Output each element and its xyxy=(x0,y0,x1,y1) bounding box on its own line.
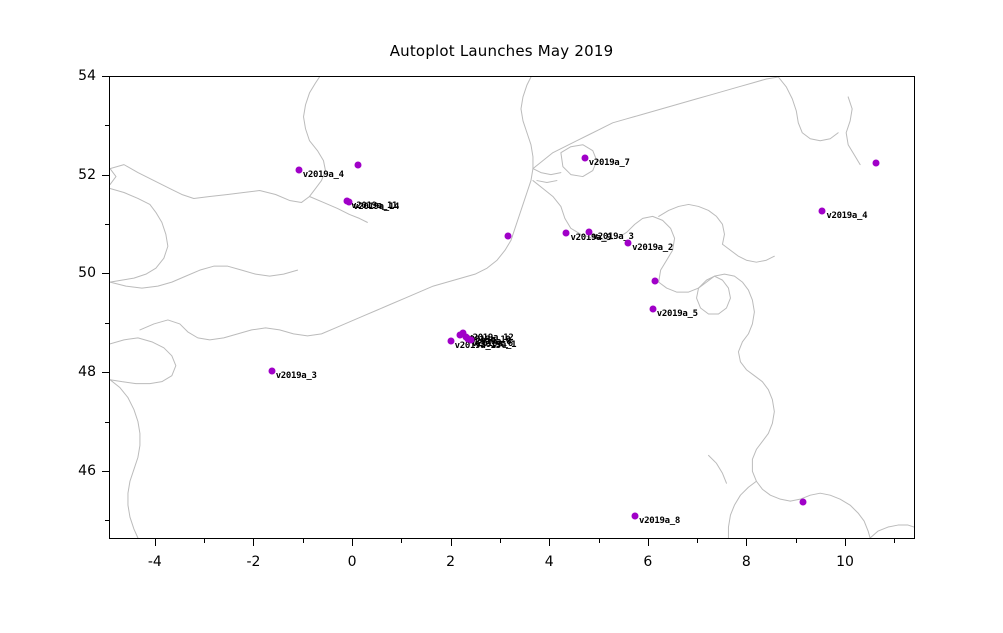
scatter-point xyxy=(468,336,475,343)
x-tick-label: -2 xyxy=(246,554,260,570)
x-tick xyxy=(451,539,452,546)
scatter-point xyxy=(872,160,879,167)
y-tick-label: 54 xyxy=(54,68,96,84)
x-tick-label: 10 xyxy=(836,554,854,570)
x-tick-label: 2 xyxy=(446,554,455,570)
x-tick-minor xyxy=(204,539,205,543)
scatter-point xyxy=(581,155,588,162)
y-tick-label: 50 xyxy=(54,265,96,281)
scatter-point xyxy=(632,513,639,520)
x-tick-label: 8 xyxy=(742,554,751,570)
point-label: v2019a_1 xyxy=(475,340,516,350)
y-tick-minor xyxy=(105,422,109,423)
point-label: v2019a_2 xyxy=(632,243,673,253)
y-tick-label: 48 xyxy=(54,364,96,380)
scatter-point xyxy=(652,278,659,285)
scatter-point xyxy=(346,198,353,205)
x-tick xyxy=(352,539,353,546)
x-tick-label: 0 xyxy=(348,554,357,570)
x-tick-minor xyxy=(500,539,501,543)
scatter-point xyxy=(563,230,570,237)
scatter-point xyxy=(295,166,302,173)
x-tick-label: -4 xyxy=(148,554,162,570)
y-tick xyxy=(102,372,109,373)
x-tick xyxy=(845,539,846,546)
x-tick-minor xyxy=(599,539,600,543)
x-tick-minor xyxy=(894,539,895,543)
y-tick xyxy=(102,273,109,274)
y-tick-label: 46 xyxy=(54,463,96,479)
x-tick-label: 6 xyxy=(643,554,652,570)
scatter-point xyxy=(649,305,656,312)
x-tick-minor xyxy=(401,539,402,543)
x-tick-label: 4 xyxy=(545,554,554,570)
scatter-point xyxy=(799,499,806,506)
x-tick-minor xyxy=(303,539,304,543)
scatter-point xyxy=(505,232,512,239)
y-tick-label: 52 xyxy=(54,167,96,183)
point-label: v2019a_4 xyxy=(303,170,344,180)
scatter-point xyxy=(354,161,361,168)
point-label: v2019a_7 xyxy=(589,158,630,168)
scatter-points: v2019a_4v2019a_11v2019a_14v2019a_3v2019a… xyxy=(110,77,914,538)
plot-area: v2019a_4v2019a_11v2019a_14v2019a_3v2019a… xyxy=(109,76,915,539)
x-tick xyxy=(549,539,550,546)
point-label: v2019a_8 xyxy=(639,516,680,526)
page-title: Autoplot Launches May 2019 xyxy=(0,42,1003,60)
y-tick xyxy=(102,175,109,176)
point-label: v2019a_4 xyxy=(826,211,867,221)
point-label: v2019a_14 xyxy=(353,202,399,212)
y-tick-minor xyxy=(105,520,109,521)
scatter-point xyxy=(268,367,275,374)
x-tick xyxy=(253,539,254,546)
point-label: v2019a_5 xyxy=(657,309,698,319)
x-tick-minor xyxy=(796,539,797,543)
scatter-point xyxy=(447,337,454,344)
y-tick-minor xyxy=(105,323,109,324)
y-tick-minor xyxy=(105,125,109,126)
x-tick xyxy=(746,539,747,546)
y-tick xyxy=(102,471,109,472)
x-tick-minor xyxy=(697,539,698,543)
scatter-point xyxy=(585,228,592,235)
scatter-point xyxy=(625,239,632,246)
x-tick xyxy=(155,539,156,546)
point-label: v2019a_3 xyxy=(276,371,317,381)
y-tick xyxy=(102,76,109,77)
y-tick-minor xyxy=(105,224,109,225)
x-tick xyxy=(648,539,649,546)
scatter-point xyxy=(819,208,826,215)
